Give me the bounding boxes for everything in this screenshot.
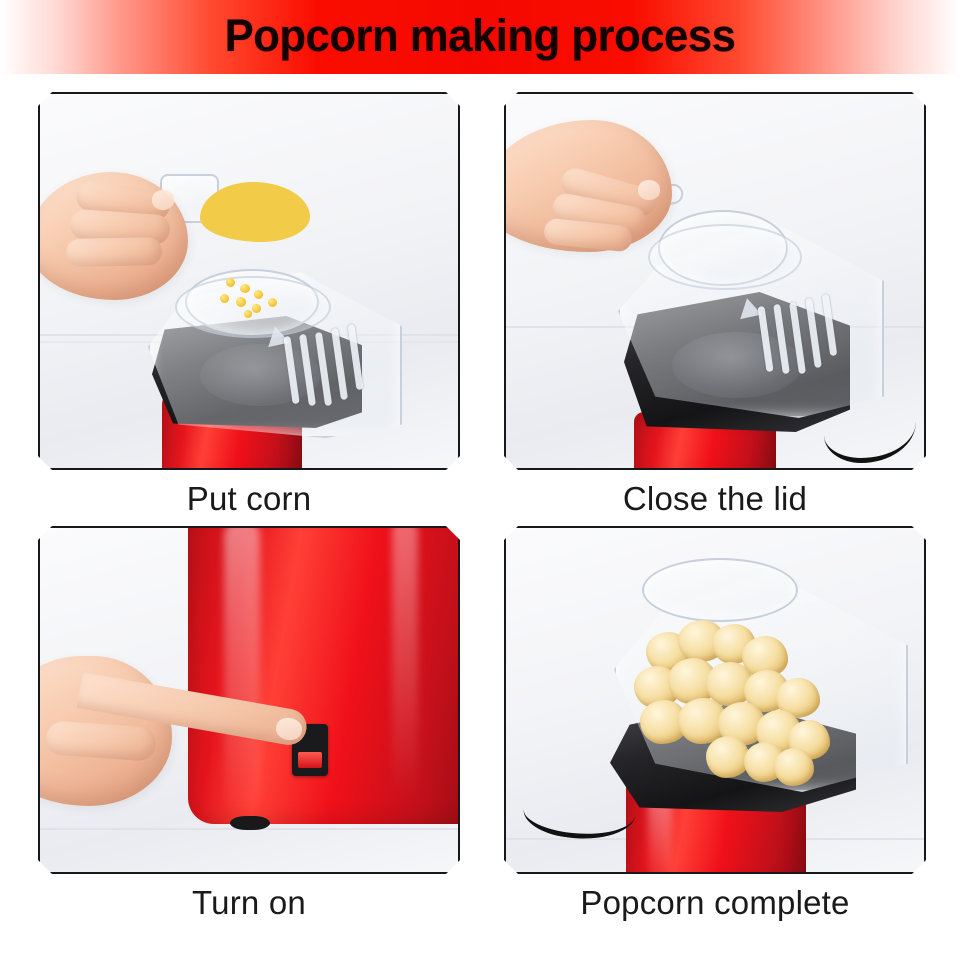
steps-grid: Put corn bbox=[0, 74, 960, 960]
power-switch-rocker[interactable] bbox=[298, 752, 322, 768]
step-3-photo-frame bbox=[38, 526, 460, 874]
corn-kernel bbox=[252, 304, 261, 313]
step-2-photo-frame bbox=[504, 92, 926, 470]
machine-foot bbox=[230, 816, 270, 830]
step-2-caption: Close the lid bbox=[504, 474, 926, 524]
step-1-caption: Put corn bbox=[38, 474, 460, 524]
corn-kernel bbox=[244, 310, 252, 318]
step-card-4: Popcorn complete bbox=[504, 526, 926, 946]
step-3-caption: Turn on bbox=[38, 878, 460, 928]
step-3-photo bbox=[40, 528, 458, 872]
body-highlight bbox=[224, 528, 260, 818]
step-1-photo bbox=[40, 94, 458, 468]
header-banner: Popcorn making process bbox=[0, 0, 960, 74]
step-2-photo bbox=[506, 94, 924, 468]
fingernail bbox=[152, 190, 174, 210]
clear-lid-dome bbox=[642, 558, 798, 622]
clear-lid-rim bbox=[648, 224, 802, 290]
corn-kernel bbox=[240, 284, 250, 293]
corn-kernel bbox=[254, 290, 263, 299]
finger bbox=[66, 237, 162, 267]
corn-kernel bbox=[268, 298, 277, 307]
popcorn-process-infographic: Popcorn making process bbox=[0, 0, 960, 960]
corn-kernel bbox=[236, 297, 246, 307]
body-highlight bbox=[392, 528, 418, 798]
corn-kernel bbox=[220, 294, 229, 303]
fingernail bbox=[638, 180, 660, 200]
step-4-photo-frame bbox=[504, 526, 926, 874]
step-card-3: Turn on bbox=[38, 526, 460, 946]
step-1-photo-frame bbox=[38, 92, 460, 470]
page-title: Popcorn making process bbox=[14, 4, 945, 68]
corn-kernel bbox=[226, 278, 235, 287]
step-4-caption: Popcorn complete bbox=[504, 878, 926, 928]
popcorn-piece bbox=[774, 748, 814, 786]
step-4-photo bbox=[506, 528, 924, 872]
step-card-1: Put corn bbox=[38, 92, 460, 542]
step-card-2: Close the lid bbox=[504, 92, 926, 542]
